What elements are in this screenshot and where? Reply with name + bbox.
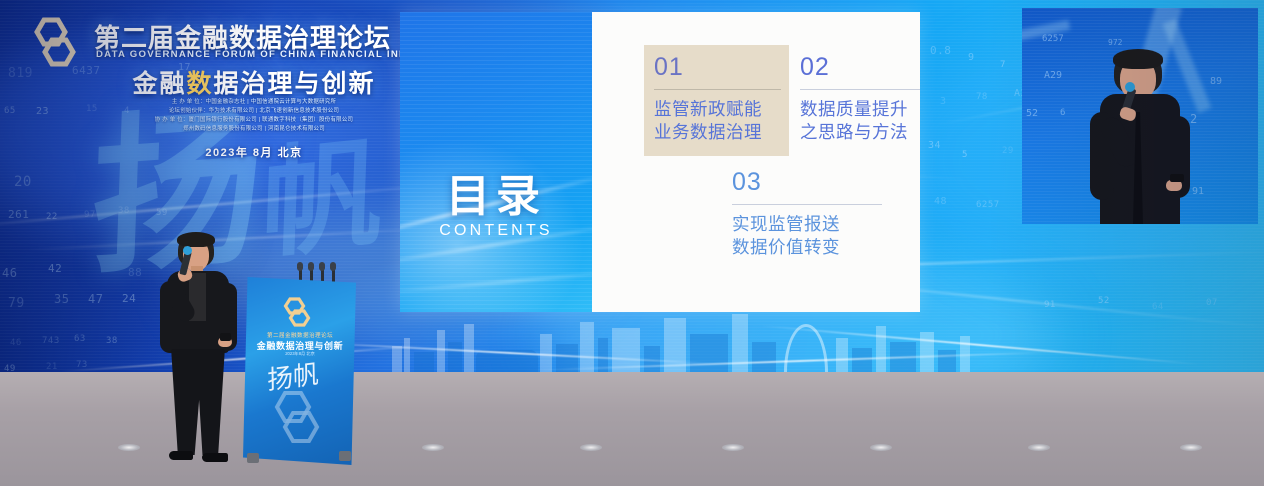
toc-number: 01 xyxy=(654,55,781,80)
floor-light xyxy=(580,444,602,451)
floor-light xyxy=(422,444,444,451)
toc-item-01: 01 监管新政赋能 业务数据治理 xyxy=(644,45,789,156)
feed-speaker-figure xyxy=(1084,50,1196,224)
organizer-line: 郑州数码信息服务股份有限公司 | 河南昆仑技术有限公司 xyxy=(94,125,414,134)
slide-section-label-zh: 目录 xyxy=(400,174,592,220)
stage-scene: 扬 帆 819643717652315420261229738594642887… xyxy=(0,0,1264,486)
toc-line-2: 业务数据治理 xyxy=(654,121,781,144)
slide-content-panel: 01 监管新政赋能 业务数据治理 02 数据质量提升 之思路与方法 03 实现监… xyxy=(592,12,920,312)
podium-title-small: 第二届金融数据治理论坛 xyxy=(253,331,347,339)
floor-light xyxy=(870,444,892,451)
feed-number: 6257 xyxy=(1042,34,1064,44)
toc-line-1: 监管新政赋能 xyxy=(654,98,781,121)
podium-foot xyxy=(247,453,259,463)
acrylic-podium: 第二届金融数据治理论坛 金融数据治理与创新 2023年8月 北京 扬帆 xyxy=(243,277,356,465)
event-theme-highlight: 数 xyxy=(186,70,213,98)
event-theme-part1: 金融 xyxy=(132,70,186,98)
forum-hexagon-logo xyxy=(277,295,317,329)
event-theme: 金融数据治理与创新 xyxy=(94,64,414,100)
toc-line-1: 数据质量提升 xyxy=(800,98,920,121)
slide-left-panel: 目录 CONTENTS xyxy=(400,12,592,312)
feed-number: A29 xyxy=(1044,70,1062,81)
slide-panel-grid xyxy=(400,12,592,312)
toc-divider xyxy=(732,204,882,205)
floor-light xyxy=(1180,444,1202,451)
organizer-line: 主 办 单 位：中国金融杂志社 | 中国信通院云计算与大数据研究所 xyxy=(94,98,414,107)
floor-light xyxy=(722,444,744,451)
floor-light xyxy=(1028,444,1050,451)
floor-light xyxy=(118,444,140,451)
podium-foot xyxy=(339,451,351,461)
toc-line-2: 数据价值转变 xyxy=(732,236,882,259)
organizer-block: 主 办 单 位：中国金融杂志社 | 中国信通院云计算与大数据研究所 论坛创始伙伴… xyxy=(94,98,414,134)
toc-number: 02 xyxy=(800,55,920,80)
feed-number: 972 xyxy=(1108,38,1122,47)
event-title-en: DATA GOVERNANCE FORUM OF CHINA FINANCIAL… xyxy=(96,49,412,60)
on-stage-speaker xyxy=(150,233,246,473)
toc-line-2: 之思路与方法 xyxy=(800,121,920,144)
toc-divider xyxy=(654,89,781,90)
presentation-slide: 目录 CONTENTS 01 监管新政赋能 业务数据治理 02 数据质量提升 之… xyxy=(400,12,920,312)
event-key-visual: 第二届金融数据治理论坛 DATA GOVERNANCE FORUM OF CHI… xyxy=(10,6,410,166)
toc-number: 03 xyxy=(732,170,882,195)
organizer-line: 协 办 单 位：厦门国际银行股份有限公司 | 联通数字科技（集团）股份有限公司 xyxy=(94,116,414,125)
microphone-head xyxy=(330,262,336,271)
toc-line-1: 实现监管报送 xyxy=(732,213,882,236)
event-date-location: 2023年 8月 北京 xyxy=(94,144,414,160)
feed-number: 6 xyxy=(1060,108,1065,118)
forum-hexagon-logo xyxy=(24,14,86,70)
organizer-line: 论坛创始伙伴：华为技术有限公司 | 北京飞速创新信息技术股份公司 xyxy=(94,107,414,116)
podium-ghost-logo xyxy=(265,387,331,445)
toc-divider xyxy=(800,89,920,90)
microphone-head xyxy=(319,262,325,271)
microphone-head xyxy=(308,262,314,271)
feed-number: 52 xyxy=(1026,108,1038,119)
live-speaker-feed: 6257 972 A29 89 52 6 2 91 xyxy=(1022,8,1258,224)
feed-number: 89 xyxy=(1210,76,1222,87)
slide-section-label: 目录 CONTENTS xyxy=(400,174,592,240)
toc-item-02: 02 数据质量提升 之思路与方法 xyxy=(800,55,920,144)
microphone-head xyxy=(297,262,303,271)
event-theme-part2: 据治理与创新 xyxy=(214,70,376,98)
toc-item-03: 03 实现监管报送 数据价值转变 xyxy=(732,170,882,259)
slide-section-label-en: CONTENTS xyxy=(400,222,592,240)
